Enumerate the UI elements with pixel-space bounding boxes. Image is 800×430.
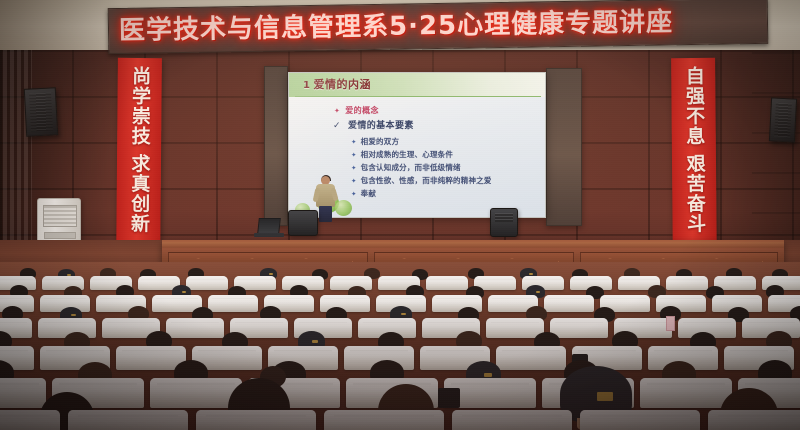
right-vertical-banner-text: 自强不息 艰苦奋斗 [681, 58, 708, 234]
slide-bullet-2: ✓爱情的基本要素 [333, 118, 414, 131]
slide-bullet-1: ✦爱的概念 [334, 105, 379, 116]
ac-panel [44, 232, 76, 239]
lecture-hall-photo: 医学技术与信息管理系5·25心理健康专题讲座 尚学崇技 求真创新 自强不息 艰苦… [0, 0, 800, 430]
diamond-bullet-icon: ✦ [351, 164, 357, 172]
right-wall-panel [546, 68, 582, 226]
floor-shading [0, 300, 800, 430]
apple-icon [335, 200, 352, 216]
diamond-bullet-icon: ✦ [351, 151, 357, 159]
av-equipment-box-left [288, 210, 318, 236]
slide-sub-bullet-text: 相爱的双方 [361, 137, 400, 146]
slide-title-text: 爱情的内涵 [313, 78, 371, 91]
left-wall-speaker-icon [24, 87, 58, 137]
check-mark-icon: ✓ [333, 121, 341, 131]
diamond-bullet-icon: ✦ [351, 138, 357, 146]
slide-sub-bullet-text: 包含认知成分，而非低级情绪 [361, 163, 461, 172]
laptop-icon [257, 218, 281, 234]
slide-bullet-1-text: 爱的概念 [345, 106, 379, 115]
right-pillar [752, 52, 800, 264]
slide-sub-bullet: ✦相对成熟的生理、心理条件 [351, 149, 453, 160]
slide-title-number: 1 [303, 80, 310, 91]
seat[interactable] [666, 276, 708, 290]
right-vertical-banner: 自强不息 艰苦奋斗 [671, 58, 717, 265]
diamond-bullet-icon: ✦ [351, 177, 357, 185]
laptop-base [254, 233, 284, 237]
diamond-bullet-icon: ✦ [334, 107, 340, 115]
slide-sub-bullet: ✦相爱的双方 [351, 136, 399, 147]
slide-sub-bullet: ✦包含性欲、性感，而非纯粹的精神之爱 [351, 175, 492, 186]
left-vertical-banner: 尚学崇技 求真创新 [116, 58, 162, 263]
seat[interactable] [426, 276, 468, 290]
left-wall-panel [264, 66, 288, 226]
slide-header-rule [295, 96, 541, 97]
slide-bullet-2-text: 爱情的基本要素 [348, 121, 414, 131]
right-wall-speaker-icon [769, 97, 797, 142]
slide-sub-bullet: ✦奉献 [351, 188, 376, 199]
slide-sub-bullet-text: 包含性欲、性感，而非纯粹的精神之爱 [361, 176, 492, 185]
left-curtain [0, 50, 32, 262]
slide-title: 1爱情的内涵 [303, 76, 371, 92]
podium-top-edge [162, 242, 784, 248]
slide-sub-bullet-text: 相对成熟的生理、心理条件 [361, 150, 453, 159]
left-vertical-banner-text: 尚学崇技 求真创新 [126, 58, 153, 234]
av-equipment-box-right [490, 208, 518, 237]
presenter-legs [319, 206, 332, 222]
slide-sub-bullet-text: 奉献 [361, 189, 376, 198]
presenter [316, 176, 335, 222]
ac-vent [43, 205, 77, 227]
seat[interactable] [186, 276, 228, 290]
led-banner-text: 医学技术与信息管理系5·25心理健康专题讲座 [119, 2, 762, 50]
diamond-bullet-icon: ✦ [351, 190, 357, 198]
slide-sub-bullet: ✦包含认知成分，而非低级情绪 [351, 162, 461, 173]
